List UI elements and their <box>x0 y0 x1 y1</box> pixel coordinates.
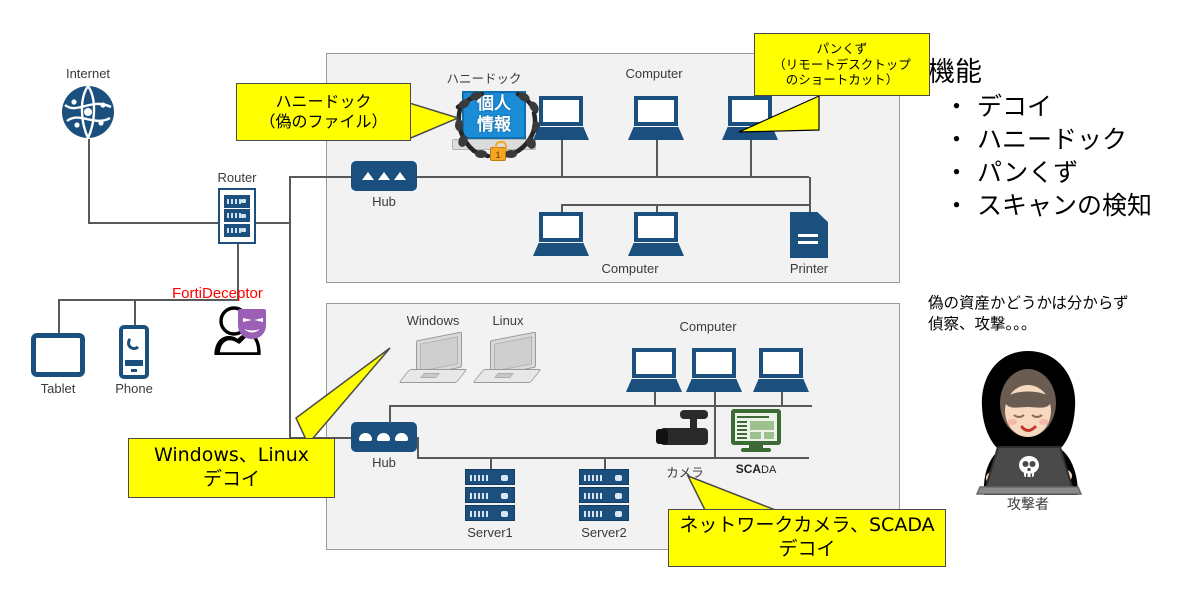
internet-globe-icon <box>61 85 115 139</box>
phone-screen-strip <box>125 360 143 366</box>
server-unit <box>465 505 515 521</box>
wire-top-lower-drop-3 <box>809 177 811 214</box>
scada-line <box>737 433 747 435</box>
hub-indicator-3 <box>394 172 406 180</box>
router-icon <box>218 188 256 244</box>
feature-item-scan-detection: ・ スキャンの検知 <box>928 189 1152 222</box>
scada-line <box>737 416 769 418</box>
computer-top-2 <box>628 96 684 140</box>
laptop-base <box>686 379 742 392</box>
network-camera-icon <box>660 410 722 456</box>
router-label: Router <box>206 170 268 185</box>
scada-screen <box>731 409 781 445</box>
callout-line: デコイ <box>203 468 260 492</box>
computer-bottom-net-2 <box>686 348 742 392</box>
camera-scada-decoy-callout: ネットワークカメラ、SCADA デコイ <box>668 509 946 567</box>
laptop-base <box>753 379 809 392</box>
wire-bottom-laptop3 <box>781 392 783 406</box>
laptop-screen <box>634 96 678 126</box>
router-port-row-2 <box>224 209 250 222</box>
printer-page <box>790 212 828 258</box>
laptop-base <box>533 127 589 140</box>
server1-icon <box>465 469 515 525</box>
laptop-screen <box>632 348 676 378</box>
printer-line-2 <box>798 241 818 244</box>
wire-to-top-hub <box>289 176 351 178</box>
callout-line: ネットワークカメラ、SCADA <box>679 514 934 538</box>
hub-indicator-1 <box>362 172 374 180</box>
hub-indicator-2 <box>378 172 390 180</box>
computer-label-top: Computer <box>604 66 704 81</box>
attacker-label: 攻撃者 <box>983 494 1073 514</box>
scada-screen-content <box>735 413 777 441</box>
laptop-screen <box>692 348 736 378</box>
honeydoc-callout-pointer <box>406 100 466 146</box>
scada-panel <box>750 432 761 439</box>
feature-item-decoy: ・ デコイ <box>928 90 1152 123</box>
internet-label: Internet <box>58 66 118 81</box>
server-unit <box>465 487 515 503</box>
top-hub-icon <box>351 161 417 191</box>
breadcrumb-callout: パンくず （リモートデスクトップ のショートカット） <box>754 33 930 96</box>
callout-line: Windows、Linux <box>154 444 309 468</box>
bottom-hub-label: Hub <box>354 455 414 470</box>
scada-foot <box>741 448 771 452</box>
features-list: 機能 ・ デコイ ・ ハニードック ・ パンくず ・ スキャンの検知 <box>928 56 1152 222</box>
feature-item-honeydoc: ・ ハニードック <box>928 123 1152 156</box>
tablet-label: Tablet <box>28 381 88 396</box>
scada-line <box>737 429 747 431</box>
sync-arrows-icon <box>127 336 141 350</box>
server2-icon <box>579 469 629 525</box>
callout-line: デコイ <box>778 538 835 562</box>
computer-bottom-1 <box>533 212 589 256</box>
phone-icon <box>119 325 149 379</box>
wire-top-lower-bus <box>561 204 810 206</box>
attacker-note-line2: 偵察、攻撃。。。 <box>928 314 1129 335</box>
printer-icon <box>790 212 828 258</box>
server-unit <box>579 469 629 485</box>
attacker-icon <box>968 345 1088 495</box>
scada-monitor-icon <box>731 409 781 455</box>
phone-home-button <box>131 369 137 372</box>
router-port-row-3 <box>224 224 250 237</box>
laptop-screen <box>539 96 583 126</box>
wire-internet-down <box>88 139 90 223</box>
wire-bottom-lower-bus <box>417 457 809 459</box>
server-unit <box>465 469 515 485</box>
callout-line: （リモートデスクトップ <box>773 57 911 73</box>
printer-line-1 <box>798 234 818 237</box>
callout-line: （偽のファイル） <box>259 112 387 132</box>
wire-bottom-upper-bus <box>389 405 812 407</box>
breadcrumb-callout-pointer <box>735 92 820 140</box>
scada-panel <box>764 432 774 439</box>
wire-phone-down <box>134 299 136 325</box>
scada-panel <box>750 421 774 430</box>
windows-linux-decoy-callout: Windows、Linux デコイ <box>128 438 335 498</box>
tablet-icon <box>31 333 85 377</box>
network-diagram-canvas: Internet Router Tablet Phone FortiDecept… <box>0 0 1200 600</box>
computer-bottom-net-1 <box>626 348 682 392</box>
callout-line: パンくず <box>817 41 868 57</box>
laptop-base <box>628 127 684 140</box>
wire-bottom-lower-riser <box>417 437 419 458</box>
hub-indicator-3 <box>395 433 408 441</box>
feature-item-breadcrumb: ・ パンくず <box>928 156 1152 189</box>
features-title: 機能 <box>928 56 1152 90</box>
linux-label: Linux <box>473 313 543 328</box>
laptop-base <box>628 243 684 256</box>
callout-line: ハニードック <box>275 92 371 112</box>
server-unit <box>579 487 629 503</box>
laptop-screen <box>634 212 678 242</box>
wire-router-to-top-hub <box>256 222 290 224</box>
phone-label: Phone <box>104 381 164 396</box>
windows-decoy-laptop <box>404 336 466 388</box>
server1-label: Server1 <box>455 525 525 540</box>
attacker-note-line1: 偽の資産かどうかは分からず <box>928 293 1129 314</box>
wire-internet-to-router <box>88 222 218 224</box>
callout-line: のショートカット） <box>786 72 899 88</box>
linux-decoy-laptop <box>478 336 540 388</box>
fortideceptor-mask-icon <box>212 305 268 355</box>
attacker-note: 偽の資産かどうかは分からず 偵察、攻撃。。。 <box>928 293 1129 335</box>
laptop-screen <box>539 212 583 242</box>
laptop-base <box>533 243 589 256</box>
fortideceptor-label: FortiDeceptor <box>172 285 263 302</box>
scada-line <box>737 425 747 427</box>
computer-label-bottom-net: Computer <box>658 319 758 334</box>
honeydoc-callout: ハニードック （偽のファイル） <box>236 83 411 141</box>
wire-tablet-down <box>58 299 60 333</box>
windows-label: Windows <box>393 313 473 328</box>
top-hub-label: Hub <box>354 194 414 209</box>
computer-bottom-2 <box>628 212 684 256</box>
computer-bottom-net-3 <box>753 348 809 392</box>
server-unit <box>579 505 629 521</box>
computer-label-bottom: Computer <box>580 261 680 276</box>
server2-label: Server2 <box>569 525 639 540</box>
camera-lens <box>656 429 668 444</box>
laptop-base <box>626 379 682 392</box>
scada-line <box>737 437 747 439</box>
padlock-icon: 1 <box>490 147 506 161</box>
scada-line <box>737 421 747 423</box>
printer-label: Printer <box>778 261 840 276</box>
wire-bottom-laptop1 <box>654 392 656 406</box>
wire-router-riser <box>289 176 291 223</box>
router-port-row-1 <box>224 195 250 208</box>
laptop-screen <box>759 348 803 378</box>
computer-top-1 <box>533 96 589 140</box>
